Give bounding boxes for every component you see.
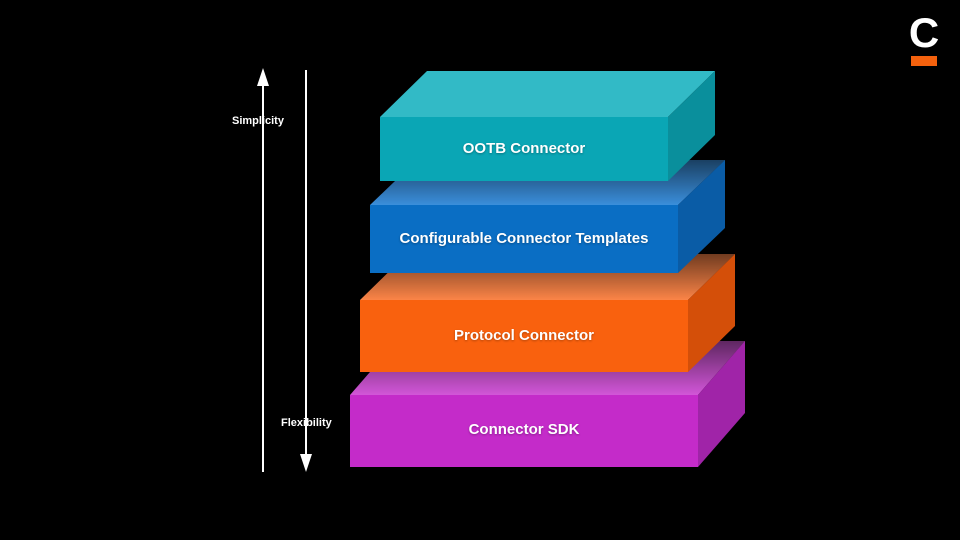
simplicity-arrow-icon [257, 68, 269, 472]
layer-label-connector-sdk: Connector SDK [350, 421, 698, 438]
layer-label-protocol-connector: Protocol Connector [360, 327, 688, 344]
simplicity-axis-label: Simplicity [232, 115, 284, 127]
axis-arrows [0, 0, 960, 540]
flexibility-axis-label: Flexibility [281, 417, 332, 429]
layer-label-ootb-connector: OOTB Connector [380, 140, 668, 157]
layer-label-configurable-connector-templates: Configurable Connector Templates [370, 230, 678, 247]
logo-accent-bar [911, 56, 937, 66]
logo-letter-c: C [906, 12, 942, 54]
brand-logo: C [906, 12, 942, 64]
flexibility-arrow-icon [300, 70, 312, 472]
diagram-canvas: Simplicity Flexibility OOTB Connector Co… [0, 0, 960, 540]
